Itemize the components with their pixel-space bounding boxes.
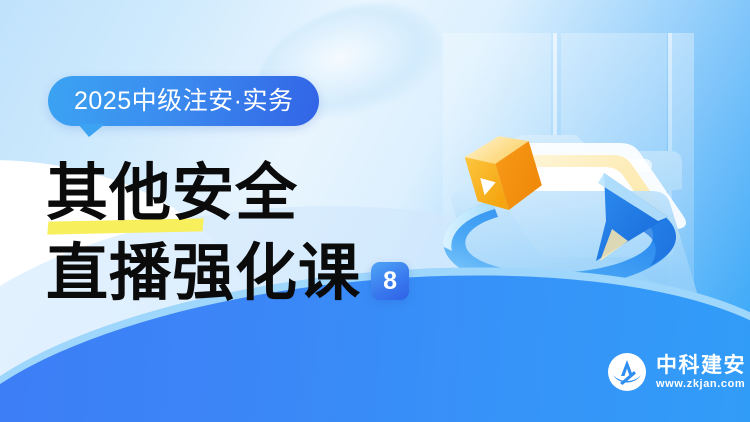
headline-block: 其他安全 直播强化课 8	[46, 152, 466, 306]
brand-logo-text: 中科建安 www.zkjan.com	[656, 354, 746, 391]
course-subject-label: 2025中级注安·实务	[74, 89, 293, 114]
brand-logo-mark	[607, 352, 647, 392]
headline-row-1: 其他安全	[46, 152, 466, 226]
headline-row-2: 直播强化课 8	[46, 232, 466, 306]
brand-logo: 中科建安 www.zkjan.com	[607, 352, 746, 392]
episode-number-badge: 8	[371, 262, 409, 300]
brand-url: www.zkjan.com	[656, 377, 746, 391]
zkjan-circle-icon	[607, 352, 647, 392]
brand-name: 中科建安	[656, 354, 746, 377]
headline-line-1: 其他安全	[46, 160, 298, 226]
pill-tail-shape	[78, 124, 105, 137]
headline-line-2: 直播强化课	[46, 240, 361, 306]
course-poster: 2025中级注安·实务 其他安全 直播强化课 8 中科建安 www.zkjan.…	[0, 0, 750, 422]
course-subject-badge: 2025中级注安·实务	[48, 76, 319, 126]
course-subject-pill: 2025中级注安·实务	[48, 76, 319, 126]
